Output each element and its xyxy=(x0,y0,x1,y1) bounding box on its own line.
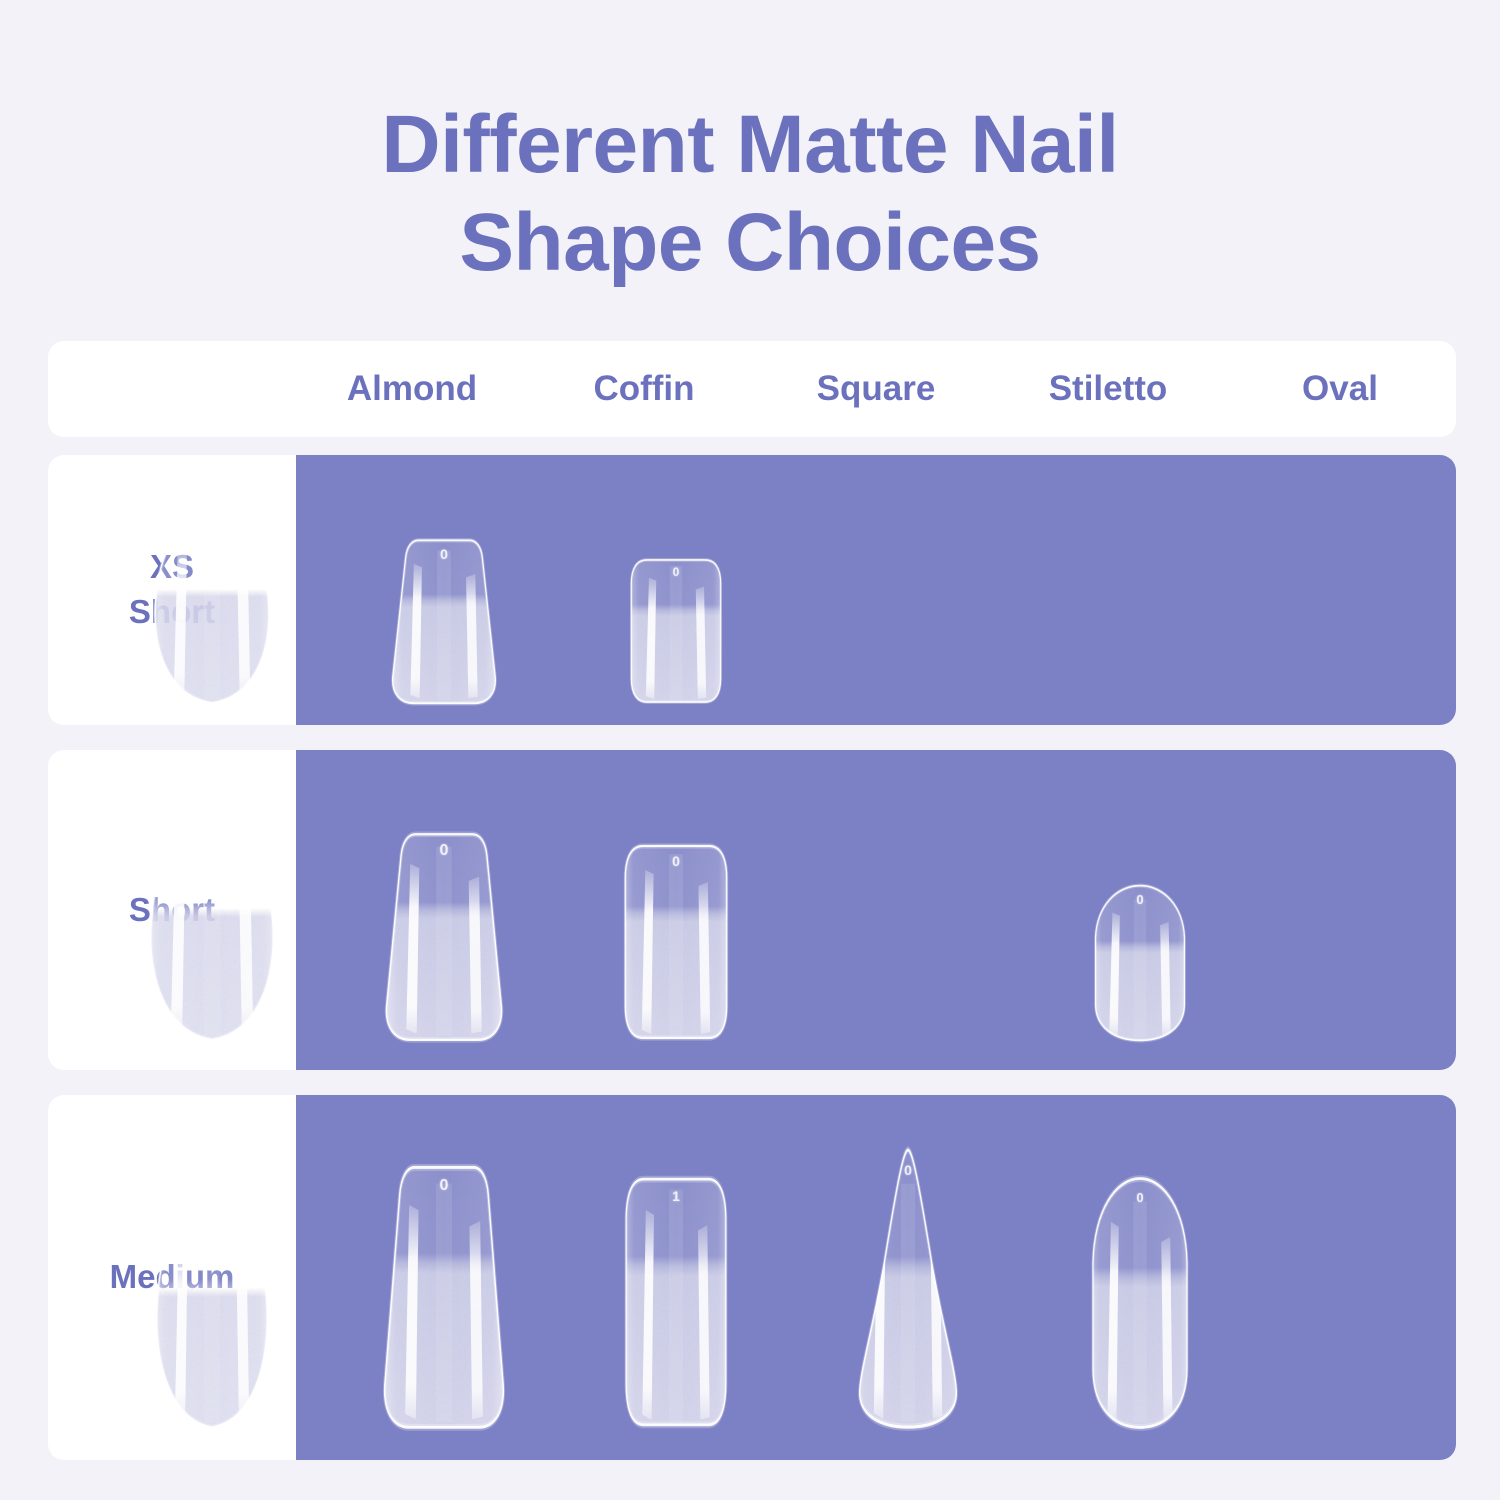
nail-tip-square-short: 0 xyxy=(560,750,792,1070)
nail-shape-stiletto: 0 xyxy=(849,1150,967,1430)
size-marking-label: 0 xyxy=(208,525,217,541)
empty-placeholder xyxy=(908,1041,909,1042)
size-row-medium: Medium xyxy=(48,1095,1456,1460)
empty-placeholder xyxy=(908,704,909,705)
title-line-1: Different Matte Nail xyxy=(0,96,1500,194)
shape-cell-empty-stiletto xyxy=(792,455,1024,725)
size-marking-label: 0 xyxy=(440,547,448,561)
nail-tip-almond-medium: 0 xyxy=(96,1095,328,1460)
nail-shape-oval: 0 xyxy=(1084,1176,1196,1430)
nail-shape-almond: 0 xyxy=(146,513,278,705)
nail-shape-square: 1 xyxy=(618,1174,734,1430)
nail-shape-coffin: 0 xyxy=(386,537,502,705)
row-shape-cells: 0 xyxy=(96,750,1256,1070)
nail-tip-stiletto-medium: 0 xyxy=(792,1095,1024,1460)
column-header-square: Square xyxy=(760,369,992,409)
nail-shape-almond: 0 xyxy=(148,1194,276,1430)
nail-tip-almond-short: 0 xyxy=(96,750,328,1070)
size-marking-label: 1 xyxy=(672,1189,680,1203)
size-marking-label: 0 xyxy=(672,854,680,868)
nail-tip-square-medium: 1 xyxy=(560,1095,792,1460)
size-marking-label: 0 xyxy=(208,1208,216,1223)
size-marking-label: 0 xyxy=(207,833,216,850)
size-row-xs-short: XS Short xyxy=(48,455,1456,725)
column-header-almond: Almond xyxy=(296,369,528,409)
nail-tip-coffin-medium: 0 xyxy=(328,1095,560,1460)
infographic-page: Different Matte Nail Shape Choices Almon… xyxy=(0,0,1500,1500)
nail-shape-square: 0 xyxy=(617,842,735,1042)
size-marking-label: 0 xyxy=(1136,1191,1143,1204)
nail-shape-square: 0 xyxy=(624,557,728,705)
nail-tip-square-xs-short: 0 xyxy=(560,455,792,725)
row-shape-cells: 0 xyxy=(96,455,1256,725)
size-marking-label: 0 xyxy=(673,566,680,578)
nail-shape-almond: 0 xyxy=(141,820,283,1042)
column-header-oval: Oval xyxy=(1224,369,1456,409)
size-marking-label: 0 xyxy=(440,1178,449,1194)
nail-tip-oval-short: 0 xyxy=(1024,750,1256,1070)
empty-placeholder xyxy=(1140,704,1141,705)
shape-cell-empty-oval xyxy=(1024,455,1256,725)
nail-shape-coffin: 0 xyxy=(379,830,509,1042)
size-marking-label: 0 xyxy=(440,843,449,859)
shape-cell-empty-stiletto xyxy=(792,750,1024,1070)
size-marking-label: 0 xyxy=(1136,893,1143,906)
nail-tip-oval-medium: 0 xyxy=(1024,1095,1256,1460)
nail-shape-coffin: 0 xyxy=(377,1162,511,1430)
column-header-list: AlmondCoffinSquareStilettoOval xyxy=(296,341,1456,437)
size-marking-label: 0 xyxy=(904,1163,912,1177)
nail-tip-almond-xs-short: 0 xyxy=(96,455,328,725)
row-shape-cells: 0 xyxy=(96,1095,1256,1460)
size-row-short: Short xyxy=(48,750,1456,1070)
column-header-coffin: Coffin xyxy=(528,369,760,409)
column-header-stiletto: Stiletto xyxy=(992,369,1224,409)
nail-tip-coffin-xs-short: 0 xyxy=(328,455,560,725)
nail-tip-coffin-short: 0 xyxy=(328,750,560,1070)
column-header-card: AlmondCoffinSquareStilettoOval xyxy=(48,341,1456,437)
nail-shape-oval: 0 xyxy=(1087,884,1193,1042)
page-title: Different Matte Nail Shape Choices xyxy=(0,96,1500,292)
title-line-2: Shape Choices xyxy=(0,194,1500,292)
